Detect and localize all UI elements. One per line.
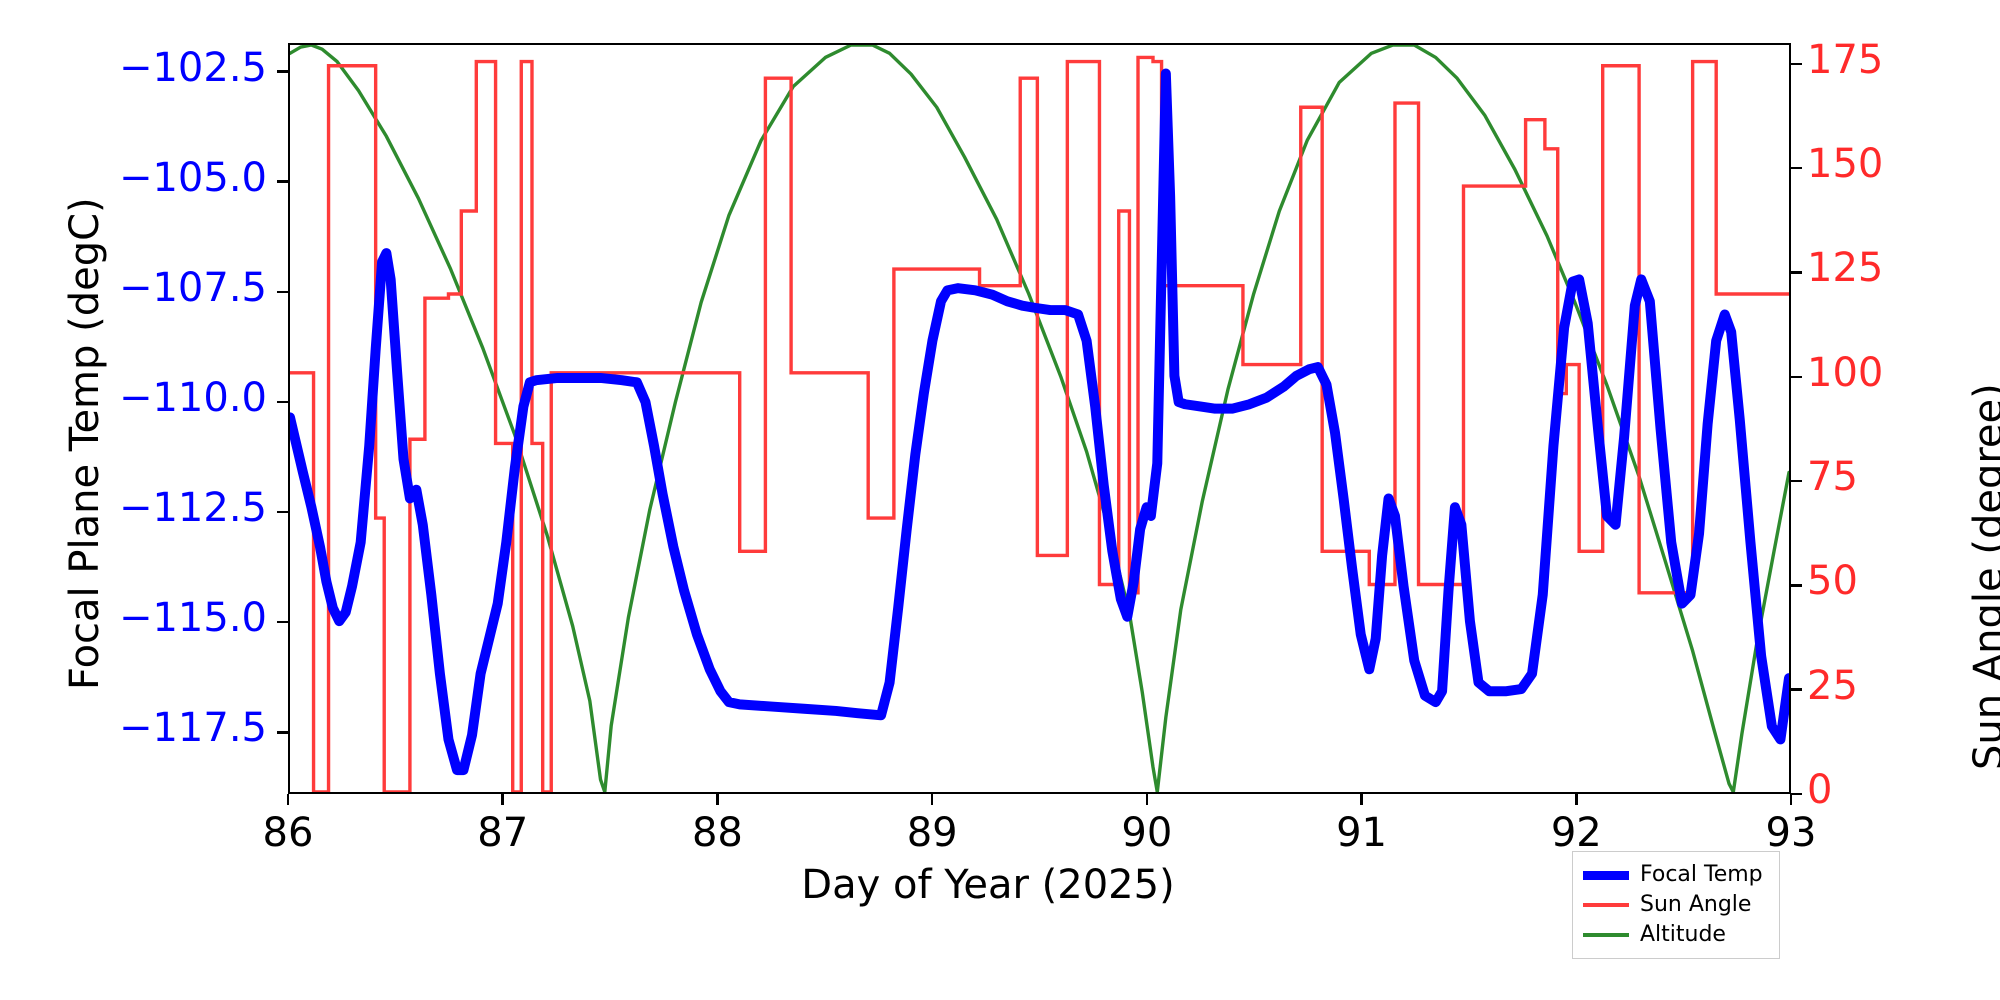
x-tick-mark xyxy=(1360,794,1363,805)
x-tick-mark xyxy=(716,794,719,805)
legend-item-focal-temp[interactable]: Focal Temp xyxy=(1583,860,1769,890)
y-left-tick-mark xyxy=(277,511,288,514)
y-left-tick-mark xyxy=(277,401,288,404)
x-tick-label: 86 xyxy=(228,810,348,856)
y-right-tick-label: 150 xyxy=(1807,141,1957,187)
x-tick-label: 87 xyxy=(443,810,563,856)
y-right-tick-label: 100 xyxy=(1807,350,1957,396)
y-right-tick-mark xyxy=(1791,376,1802,379)
x-tick-mark xyxy=(931,794,934,805)
legend-swatch-altitude xyxy=(1583,933,1629,937)
y-right-tick-mark xyxy=(1791,480,1802,483)
legend-swatch-focal-temp xyxy=(1583,871,1629,880)
y-right-tick-label: 0 xyxy=(1807,767,1957,813)
legend-item-altitude[interactable]: Altitude xyxy=(1583,920,1769,950)
x-tick-mark xyxy=(1146,794,1149,805)
x-tick-mark xyxy=(1790,794,1793,805)
y-left-tick-label: −107.5 xyxy=(0,265,267,311)
altitude-line xyxy=(290,45,1789,792)
legend-swatch-sun-angle xyxy=(1583,903,1629,907)
y-axis-right-title: Sun Angle (degree) xyxy=(1966,383,2000,770)
y-right-tick-mark xyxy=(1791,271,1802,274)
y-left-tick-label: −112.5 xyxy=(0,485,267,531)
y-right-tick-label: 125 xyxy=(1807,245,1957,291)
y-left-tick-mark xyxy=(277,731,288,734)
y-right-tick-mark xyxy=(1791,167,1802,170)
x-tick-label: 88 xyxy=(657,810,777,856)
y-right-tick-mark xyxy=(1791,584,1802,587)
x-tick-mark xyxy=(501,794,504,805)
y-right-tick-mark xyxy=(1791,793,1802,796)
y-right-tick-label: 175 xyxy=(1807,37,1957,83)
y-right-tick-mark xyxy=(1791,63,1802,66)
y-right-tick-label: 75 xyxy=(1807,454,1957,500)
y-left-tick-label: −115.0 xyxy=(0,595,267,641)
x-tick-mark xyxy=(287,794,290,805)
x-tick-label: 92 xyxy=(1516,810,1636,856)
y-left-tick-mark xyxy=(277,180,288,183)
legend-label-focal-temp: Focal Temp xyxy=(1640,864,1763,886)
legend-label-sun-angle: Sun Angle xyxy=(1640,894,1751,916)
y-right-tick-label: 50 xyxy=(1807,558,1957,604)
legend-label-altitude: Altitude xyxy=(1640,924,1726,946)
y-left-tick-label: −117.5 xyxy=(0,705,267,751)
y-left-tick-mark xyxy=(277,291,288,294)
x-tick-label: 89 xyxy=(872,810,992,856)
y-left-tick-label: −105.0 xyxy=(0,155,267,201)
x-tick-label: 90 xyxy=(1087,810,1207,856)
y-left-tick-label: −102.5 xyxy=(0,45,267,91)
figure-canvas: Focal Plane Temp (degC) Sun Angle (degre… xyxy=(0,0,2000,1000)
focal-temp-line xyxy=(290,73,1789,770)
y-left-tick-mark xyxy=(277,70,288,73)
legend-item-sun-angle[interactable]: Sun Angle xyxy=(1583,890,1769,920)
x-tick-label: 93 xyxy=(1731,810,1851,856)
y-right-tick-mark xyxy=(1791,688,1802,691)
chart-legend[interactable]: Focal Temp Sun Angle Altitude xyxy=(1572,851,1780,959)
y-left-tick-mark xyxy=(277,621,288,624)
plot-lines xyxy=(290,45,1789,792)
x-tick-label: 91 xyxy=(1302,810,1422,856)
y-left-tick-label: −110.0 xyxy=(0,375,267,421)
sun-angle-line xyxy=(290,57,1789,792)
plot-area xyxy=(288,43,1791,794)
y-right-tick-label: 25 xyxy=(1807,663,1957,709)
x-tick-mark xyxy=(1575,794,1578,805)
